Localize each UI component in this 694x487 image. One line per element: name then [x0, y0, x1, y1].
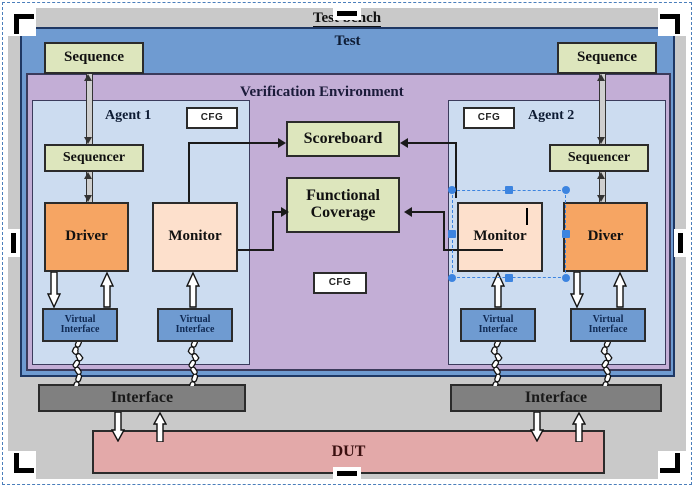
blockarrow-iface-right-up — [572, 412, 586, 442]
blockarrow-iface-left-up — [153, 412, 167, 442]
virtual-interface-4-box[interactable]: Virtual Interface — [570, 308, 646, 342]
blockarrow-driver2-up — [613, 272, 627, 308]
arrow-sequence-sequencer-right — [597, 74, 606, 144]
cfg-agent1-box[interactable]: CFG — [186, 107, 238, 129]
arrowhead-fc-left — [281, 207, 289, 217]
crop-mark-bottom-left[interactable] — [8, 451, 36, 479]
selection-handle-middle-right[interactable] — [562, 230, 570, 238]
vif4-line2: Interface — [589, 324, 628, 335]
vif1-line1: Virtual — [65, 314, 96, 325]
connector-monitor1-to-scoreboard-vert — [188, 142, 190, 202]
connector-monitor1-to-fc-vert — [272, 211, 274, 251]
vif1-line2: Interface — [61, 324, 100, 335]
blockarrow-driver1-down — [47, 272, 61, 308]
agent2-label: Agent 2 — [528, 108, 574, 124]
sequence-left-box[interactable]: Sequence — [44, 42, 144, 74]
dotted-connector-2 — [186, 342, 202, 386]
fc-line2: Coverage — [311, 204, 376, 221]
connector-monitor2-to-fc-horz2 — [412, 211, 445, 213]
functional-coverage-box[interactable]: Functional Coverage — [286, 177, 400, 233]
cfg-agent2-box[interactable]: CFG — [463, 107, 515, 129]
virtual-interface-3-box[interactable]: Virtual Interface — [460, 308, 536, 342]
dotted-connector-1 — [70, 342, 86, 386]
selection-rectangle — [452, 190, 566, 278]
virtual-interface-1-box[interactable]: Virtual Interface — [42, 308, 118, 342]
edge-handle-middle-left[interactable] — [8, 229, 20, 257]
selection-handle-bottom-right[interactable] — [562, 274, 570, 282]
agent1-label: Agent 1 — [105, 108, 151, 124]
cfg-env-box[interactable]: CFG — [313, 272, 367, 294]
crop-mark-top-left[interactable] — [8, 8, 36, 36]
arrow-sequencer-driver-right — [597, 172, 606, 202]
sequencer-left-box[interactable]: Sequencer — [44, 144, 144, 172]
selection-handle-top-left[interactable] — [448, 186, 456, 194]
edge-handle-bottom-center[interactable] — [333, 467, 361, 479]
fc-line1: Functional — [306, 187, 380, 204]
connector-monitor2-to-scoreboard-horz — [408, 142, 457, 144]
verification-environment-label: Verification Environment — [240, 84, 404, 101]
text-cursor — [526, 208, 528, 225]
selection-handle-top-right[interactable] — [562, 186, 570, 194]
vif2-line2: Interface — [176, 324, 215, 335]
arrow-sequence-sequencer-left — [84, 74, 93, 144]
selection-handle-top-center[interactable] — [505, 186, 513, 194]
edge-handle-top-center[interactable] — [333, 8, 361, 20]
connector-monitor2-to-fc-vert — [443, 211, 445, 251]
arrowhead-scoreboard-left — [278, 138, 286, 148]
driver-left-box[interactable]: Driver — [44, 202, 129, 272]
blockarrow-monitor1-up — [186, 272, 200, 308]
sequencer-right-box[interactable]: Sequencer — [549, 144, 649, 172]
selection-handle-bottom-left[interactable] — [448, 274, 456, 282]
uvm-testbench-diagram: Test bench Test Verification Environment… — [0, 0, 694, 487]
connector-monitor1-to-scoreboard-horz — [188, 142, 280, 144]
arrowhead-scoreboard-right — [400, 138, 408, 148]
vif3-line2: Interface — [479, 324, 518, 335]
dotted-connector-3 — [489, 342, 505, 386]
selection-handle-middle-left[interactable] — [448, 230, 456, 238]
selection-handle-bottom-center[interactable] — [505, 274, 513, 282]
virtual-interface-2-box[interactable]: Virtual Interface — [157, 308, 233, 342]
interface-right-box[interactable]: Interface — [450, 384, 662, 412]
driver-right-box[interactable]: Diver — [563, 202, 648, 272]
monitor-left-box[interactable]: Monitor — [152, 202, 238, 272]
vif3-line1: Virtual — [483, 314, 514, 325]
scoreboard-box[interactable]: Scoreboard — [286, 121, 400, 157]
connector-monitor1-to-fc-horz1 — [238, 249, 274, 251]
sequence-right-box[interactable]: Sequence — [557, 42, 657, 74]
arrowhead-fc-right — [404, 207, 412, 217]
arrow-sequencer-driver-left — [84, 172, 93, 202]
dotted-connector-4 — [599, 342, 615, 386]
crop-mark-bottom-right[interactable] — [658, 451, 686, 479]
interface-left-box[interactable]: Interface — [38, 384, 246, 412]
crop-mark-top-right[interactable] — [658, 8, 686, 36]
blockarrow-driver1-up — [100, 272, 114, 308]
blockarrow-iface-right-down — [530, 412, 544, 442]
edge-handle-middle-right[interactable] — [674, 229, 686, 257]
blockarrow-driver2-down — [570, 272, 584, 308]
vif2-line1: Virtual — [180, 314, 211, 325]
blockarrow-iface-left-down — [111, 412, 125, 442]
vif4-line1: Virtual — [593, 314, 624, 325]
